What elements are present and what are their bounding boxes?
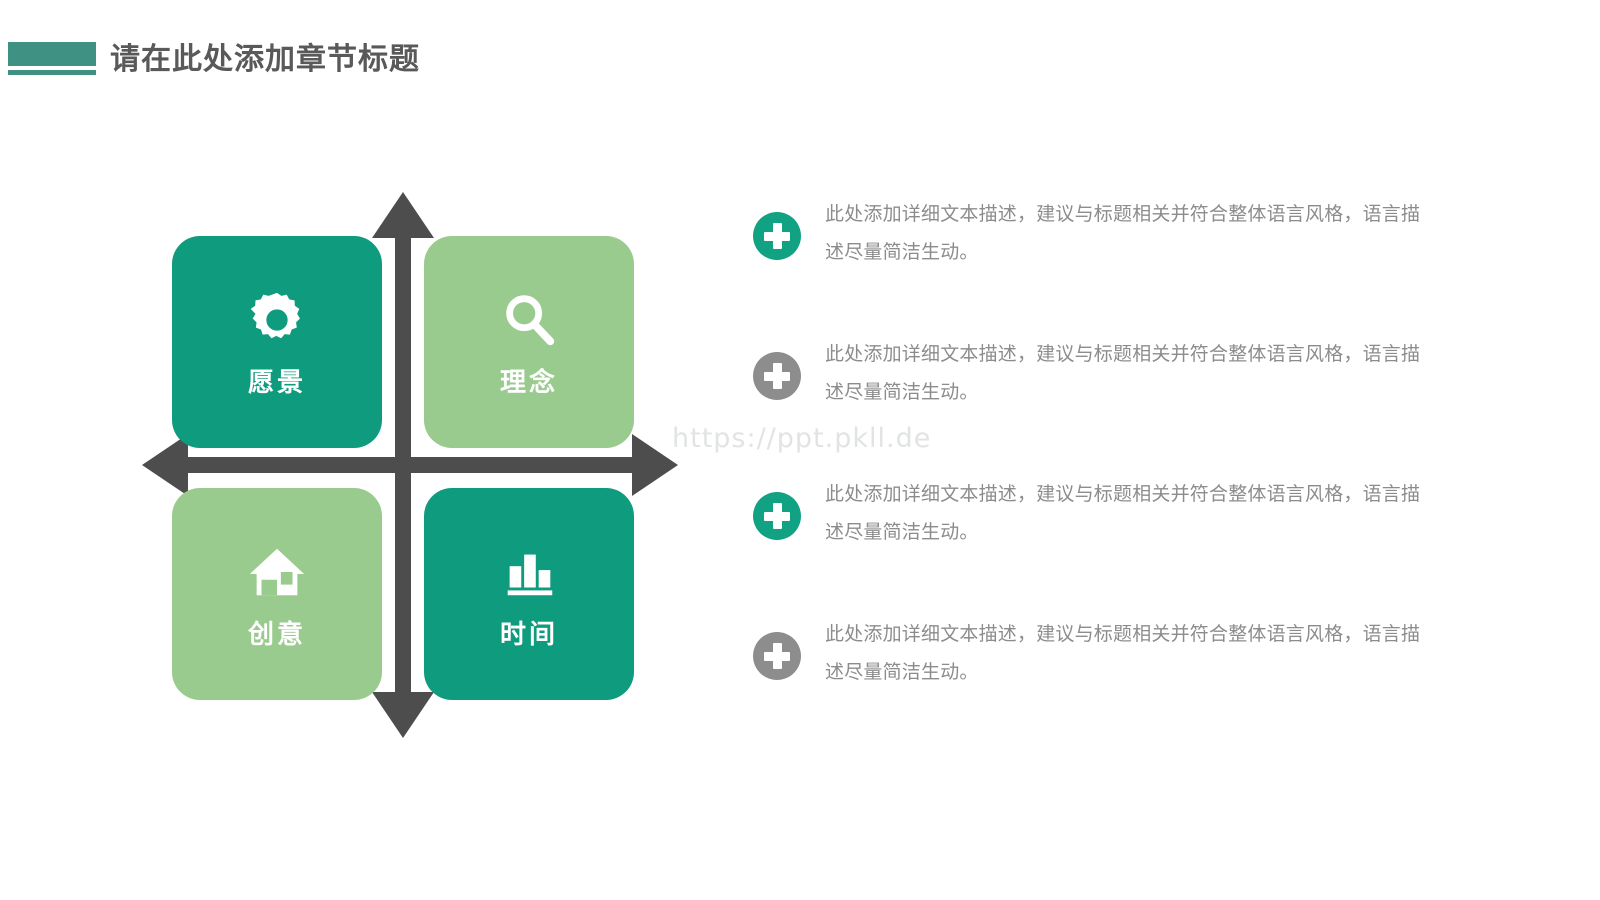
bar-chart-icon: [498, 541, 560, 603]
plus-circle-icon: [753, 492, 801, 540]
list-item[interactable]: 此处添加详细文本描述，建议与标题相关并符合整体语言风格，语言描述尽量简洁生动。: [753, 196, 1433, 336]
list-item-text: 此处添加详细文本描述，建议与标题相关并符合整体语言风格，语言描述尽量简洁生动。: [825, 196, 1425, 272]
header-accent-underline: [8, 70, 96, 75]
house-icon: [246, 541, 308, 603]
quadrant-label: 理念: [500, 369, 558, 395]
page-title: 请在此处添加章节标题: [110, 36, 420, 84]
list-item-text: 此处添加详细文本描述，建议与标题相关并符合整体语言风格，语言描述尽量简洁生动。: [825, 476, 1425, 552]
list-item-text: 此处添加详细文本描述，建议与标题相关并符合整体语言风格，语言描述尽量简洁生动。: [825, 616, 1425, 692]
header-accent-bar: [8, 42, 96, 66]
plus-circle-icon: [753, 212, 801, 260]
quadrant-diagram: 愿景 理念 创意: [140, 190, 680, 740]
quadrant-label: 时间: [500, 621, 558, 647]
plus-circle-icon: [753, 352, 801, 400]
slide-header: 请在此处添加章节标题: [0, 38, 1600, 94]
list-item[interactable]: 此处添加详细文本描述，建议与标题相关并符合整体语言风格，语言描述尽量简洁生动。: [753, 616, 1433, 756]
list-item-text: 此处添加详细文本描述，建议与标题相关并符合整体语言风格，语言描述尽量简洁生动。: [825, 336, 1425, 412]
quadrant-card-creativity[interactable]: 创意: [172, 488, 382, 700]
gear-icon: [246, 289, 308, 351]
quadrant-card-vision[interactable]: 愿景: [172, 236, 382, 448]
list-item[interactable]: 此处添加详细文本描述，建议与标题相关并符合整体语言风格，语言描述尽量简洁生动。: [753, 476, 1433, 616]
quadrant-card-concept[interactable]: 理念: [424, 236, 634, 448]
plus-circle-icon: [753, 632, 801, 680]
quadrant-card-time[interactable]: 时间: [424, 488, 634, 700]
list-item[interactable]: 此处添加详细文本描述，建议与标题相关并符合整体语言风格，语言描述尽量简洁生动。: [753, 336, 1433, 476]
quadrant-label: 创意: [248, 621, 306, 647]
search-icon: [498, 289, 560, 351]
quadrant-label: 愿景: [248, 369, 306, 395]
bullet-list: 此处添加详细文本描述，建议与标题相关并符合整体语言风格，语言描述尽量简洁生动。 …: [753, 196, 1433, 756]
